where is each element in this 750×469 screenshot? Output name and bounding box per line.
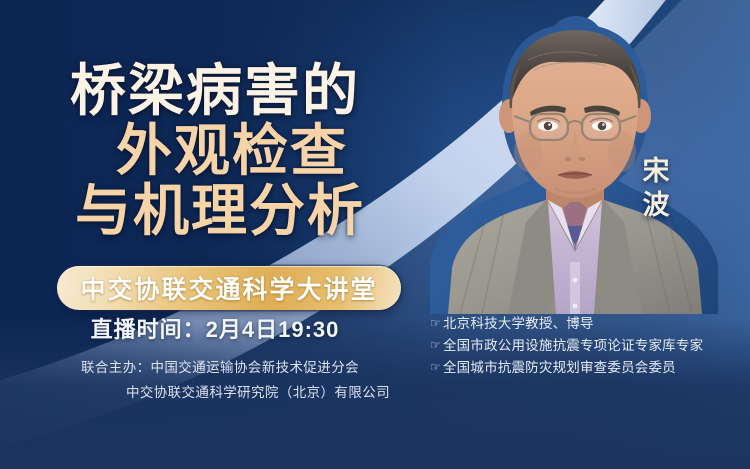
credential-text: 全国城市抗震防灾规划审查委员会委员 — [443, 357, 676, 379]
lecture-poster: 桥梁病害的 外观检查 与机理分析 中交协联交通科学大讲堂 直播时间：2月4日19… — [0, 0, 750, 469]
pointing-hand-icon: ☞ — [430, 358, 441, 377]
organizers-block: 联合主办：中国交通运输协会新技术促进分会 中交协联交通科学研究院（北京）有限公司 — [0, 356, 440, 406]
credential-item: ☞ 全国城市抗震防灾规划审查委员会委员 — [430, 357, 750, 379]
speaker-name-char-1: 宋 — [636, 155, 676, 189]
series-banner-label: 中交协联交通科学大讲堂 — [80, 270, 377, 306]
organizer-line-2: 中交协联交通科学研究院（北京）有限公司 — [0, 381, 440, 406]
title-line-1: 桥梁病害的 — [0, 64, 430, 119]
speaker-credentials: ☞ 北京科技大学教授、博导 ☞ 全国市政公用设施抗震专项论证专家库专家 ☞ 全国… — [430, 313, 750, 379]
speaker-name: 宋 波 — [636, 155, 676, 223]
title-line-2: 外观检查 — [0, 124, 430, 179]
pointing-hand-icon: ☞ — [430, 314, 441, 333]
title-line-3: 与机理分析 — [0, 184, 430, 239]
speaker-name-char-2: 波 — [636, 189, 676, 223]
live-time-text: 直播时间：2月4日19:30 — [0, 312, 430, 344]
series-banner-badge: 中交协联交通科学大讲堂 — [57, 266, 401, 310]
page-title: 桥梁病害的 外观检查 与机理分析 — [0, 64, 430, 239]
pointing-hand-icon: ☞ — [430, 336, 441, 355]
credential-item: ☞ 北京科技大学教授、博导 — [430, 313, 750, 335]
organizer-line-1: 联合主办：中国交通运输协会新技术促进分会 — [0, 356, 440, 381]
credential-item: ☞ 全国市政公用设施抗震专项论证专家库专家 — [430, 335, 750, 357]
credential-text: 全国市政公用设施抗震专项论证专家库专家 — [443, 335, 703, 357]
credential-text: 北京科技大学教授、博导 — [443, 313, 594, 335]
